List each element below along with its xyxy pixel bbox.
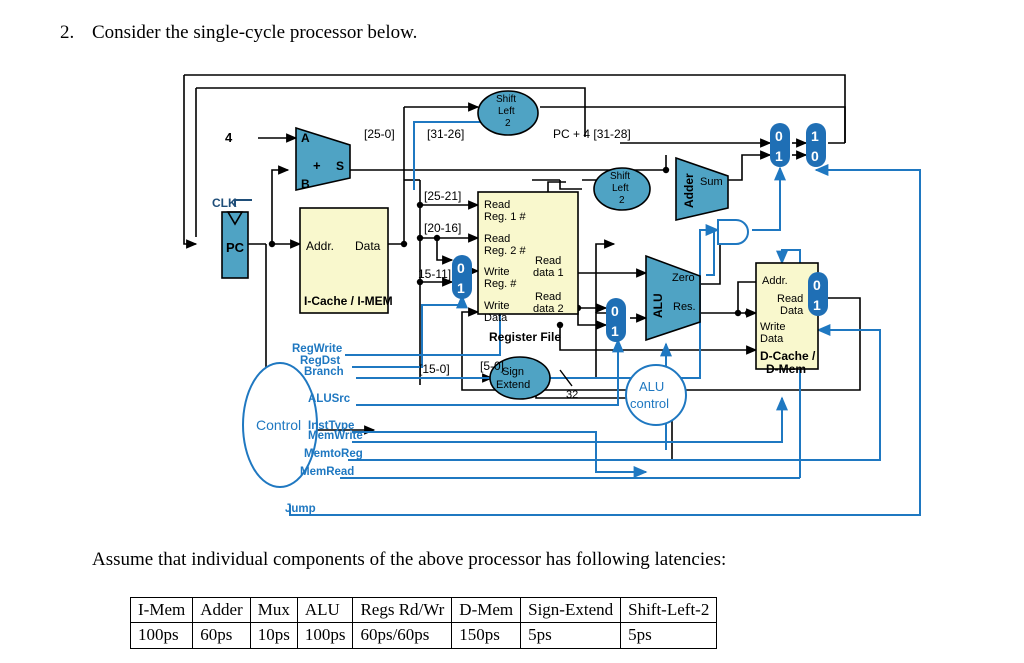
label-alu-zero: Zero <box>672 272 695 284</box>
control-signal-memwrite: MemWrite <box>308 430 363 442</box>
mux-alusrc-label-0: 0 <box>611 303 619 319</box>
control-signal-branch: Branch <box>304 366 344 378</box>
label-alu: ALU <box>651 293 665 318</box>
label-shift-left-branch-b: Left <box>612 183 629 194</box>
latency-value-adder: 60ps <box>193 623 250 648</box>
bus-label-25-0: [25-0] <box>364 127 395 141</box>
label-rf-read-reg2-b: Reg. 2 # <box>484 245 526 257</box>
question-number: 2. <box>60 22 74 44</box>
label-shift-left-jump-c: 2 <box>505 118 511 129</box>
label-dcache-addr: Addr. <box>762 275 788 287</box>
bus-label-31-26: [31-26] <box>427 127 464 141</box>
label-rf-write-data-b: Data <box>484 312 508 324</box>
alu-control-block <box>626 365 686 425</box>
latency-header-alu: ALU <box>297 598 353 623</box>
bus-label-25-21: [25-21] <box>424 189 461 203</box>
label-rf-read-data2-a: Read <box>535 291 561 303</box>
bus-label-20-16: [20-16] <box>424 221 461 235</box>
label-dcache-readdata-a: Read <box>777 293 803 305</box>
and-gate-branch <box>718 220 748 244</box>
label-icache-title: I-Cache / I-MEM <box>304 294 393 308</box>
label-dcache-title-b: D-Mem <box>766 362 806 376</box>
label-rf-write-reg-a: Write <box>484 266 509 278</box>
mux-regdst-label-0: 0 <box>457 260 465 276</box>
mux-memtoreg-label-0: 0 <box>813 277 821 293</box>
bus-label-15-11: 15-11] <box>418 267 451 281</box>
label-constant-four: 4 <box>225 130 233 145</box>
label-clk: CLK <box>212 196 237 210</box>
label-adder-a: A <box>301 131 310 145</box>
label-icache-data: Data <box>355 239 381 253</box>
label-pc: PC <box>226 240 245 255</box>
latency-header-dmem: D-Mem <box>452 598 521 623</box>
question-prompt: Consider the single-cycle processor belo… <box>92 22 417 44</box>
latency-header-imem: I-Mem <box>131 598 193 623</box>
label-shift-left-branch-c: 2 <box>619 195 625 206</box>
control-signal-alusrc: ALUSrc <box>308 393 351 405</box>
label-adder-s: S <box>336 159 344 173</box>
latency-value-imem: 100ps <box>131 623 193 648</box>
latency-table-header-row: I-Mem Adder Mux ALU Regs Rd/Wr D-Mem Sig… <box>131 598 717 623</box>
latency-value-signextend: 5ps <box>521 623 621 648</box>
label-rf-write-reg-b: Reg. # <box>484 278 517 290</box>
control-signal-regwrite: RegWrite <box>292 343 342 355</box>
latency-table-value-row: 100ps 60ps 10ps 100ps 60ps/60ps 150ps 5p… <box>131 623 717 648</box>
label-icache-addr: Addr. <box>306 239 334 253</box>
label-branch-adder: Adder <box>682 173 696 208</box>
mux-jump-label-0: 0 <box>811 148 819 164</box>
label-rf-read-data1-a: Read <box>535 255 561 267</box>
label-alu-control-b: control <box>630 396 669 411</box>
label-rf-read-reg1-b: Reg. 1 # <box>484 211 526 223</box>
latency-value-shiftleft2: 5ps <box>621 623 717 648</box>
latency-value-alu: 100ps <box>297 623 353 648</box>
control-signal-memtoreg: MemtoReg <box>304 448 363 460</box>
label-rf-read-reg2-a: Read <box>484 233 510 245</box>
processor-datapath-diagram: 4 A B + S CLK PC Addr. Data I-Cache / I-… <box>0 60 1024 540</box>
latency-value-dmem: 150ps <box>452 623 521 648</box>
label-alu-control-a: ALU <box>639 379 664 394</box>
latency-table: I-Mem Adder Mux ALU Regs Rd/Wr D-Mem Sig… <box>130 597 717 649</box>
label-dcache-title-a: D-Cache / <box>760 349 816 363</box>
latency-header-mux: Mux <box>250 598 297 623</box>
bus-label-5-0: [5-0] <box>480 359 504 373</box>
label-shift-left-branch-a: Shift <box>610 171 630 182</box>
label-dcache-writedata-a: Write <box>760 321 785 333</box>
latency-header-regs: Regs Rd/Wr <box>353 598 452 623</box>
label-adder-op: + <box>313 158 321 173</box>
label-sign-extend-a: Sign <box>502 366 524 378</box>
latency-header-signextend: Sign-Extend <box>521 598 621 623</box>
label-shift-left-jump-b: Left <box>498 106 515 117</box>
control-signal-jump: Jump <box>285 503 316 515</box>
latency-header-adder: Adder <box>193 598 250 623</box>
latency-value-regs: 60ps/60ps <box>353 623 452 648</box>
label-control-unit: Control <box>256 417 301 433</box>
bus-label-pc-plus-4: PC + 4 [31-28] <box>553 127 631 141</box>
latency-value-mux: 10ps <box>250 623 297 648</box>
label-dcache-readdata-b: Data <box>780 305 804 317</box>
mux-branch-label-0: 0 <box>775 128 783 144</box>
label-rf-read-reg1-a: Read <box>484 199 510 211</box>
mux-jump-label-1: 1 <box>811 128 819 144</box>
label-sign-extend-b: Extend <box>496 379 530 391</box>
control-signal-memread: MemRead <box>300 466 354 478</box>
mux-regdst-label-1: 1 <box>457 280 465 296</box>
mux-alusrc-label-1: 1 <box>611 323 619 339</box>
assume-latencies-text: Assume that individual components of the… <box>92 549 726 571</box>
mux-branch-label-1: 1 <box>775 148 783 164</box>
latency-header-shiftleft2: Shift-Left-2 <box>621 598 717 623</box>
label-shift-left-jump-a: Shift <box>496 94 516 105</box>
label-alu-res: Res. <box>673 301 696 313</box>
label-rf-read-data2-b: data 2 <box>533 303 564 315</box>
label-dcache-writedata-b: Data <box>760 333 784 345</box>
mux-memtoreg-label-1: 1 <box>813 297 821 313</box>
bus-label-15-0: [15-0] <box>419 362 450 376</box>
label-adder-b: B <box>301 177 310 191</box>
label-register-file-title: Register File <box>489 330 561 344</box>
label-branch-adder-sum: Sum <box>700 176 723 188</box>
label-rf-write-data-a: Write <box>484 300 509 312</box>
label-bus-width-32: 32 <box>566 389 578 401</box>
pc-register <box>222 200 252 278</box>
label-rf-read-data1-b: data 1 <box>533 267 564 279</box>
